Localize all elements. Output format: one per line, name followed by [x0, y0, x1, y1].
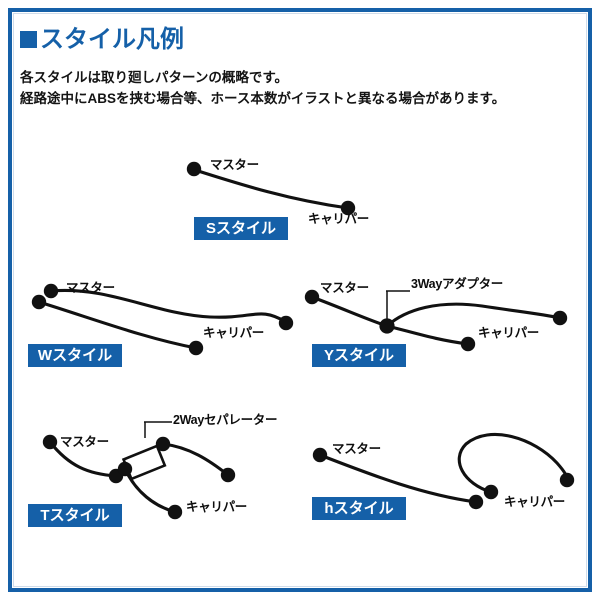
w-style-master-label: マスター — [66, 282, 115, 295]
t-style-master-node — [43, 435, 57, 449]
t-style-caliper-node-1 — [221, 468, 235, 482]
t-style-chip[interactable]: Tスタイル — [28, 504, 122, 527]
t-style-hose-to-sep — [116, 469, 125, 476]
h-style-master-label: マスター — [332, 443, 381, 456]
y-style-diagram — [305, 290, 567, 351]
note-line-2: 経路途中にABSを挟む場合等、ホース本数がイラストと異なる場合があります。 — [20, 89, 505, 110]
y-style-caliper-node-2 — [461, 337, 475, 351]
style-legend-page: スタイル凡例 各スタイルは取り廻しパターンの概略です。 経路途中にABSを挟む場… — [0, 0, 600, 600]
y-style-master-node — [305, 290, 319, 304]
w-style-caliper-node-2 — [189, 341, 203, 355]
h-style-master-node — [313, 448, 327, 462]
y-style-chip[interactable]: Yスタイル — [312, 344, 406, 367]
t-style-separator-box — [124, 446, 165, 479]
t-style-hose-branch-right — [163, 444, 228, 475]
t-style-caliper-label: キャリパー — [186, 501, 247, 514]
s-style-caliper-label: キャリパー — [308, 213, 369, 226]
w-style-chip[interactable]: Wスタイル — [28, 344, 122, 367]
y-style-hose-branch-lower — [387, 326, 468, 344]
y-style-hose-main — [312, 297, 387, 326]
page-title: スタイル凡例 — [20, 28, 184, 52]
h-style-caliper-node-3 — [560, 473, 574, 487]
s-style-master-node — [187, 162, 201, 176]
t-style-junction-node-1 — [109, 469, 123, 483]
h-style-caliper-label: キャリパー — [504, 496, 565, 509]
h-style-caliper-node-2 — [484, 485, 498, 499]
y-style-adapter-label: 3Wayアダプター — [411, 278, 503, 291]
w-style-caliper-label: キャリパー — [203, 327, 264, 340]
y-style-caliper-label: キャリパー — [478, 327, 539, 340]
note-line-1: 各スタイルは取り廻しパターンの概略です。 — [20, 68, 505, 89]
y-style-hose-branch-upper — [387, 304, 560, 326]
note-block: 各スタイルは取り廻しパターンの概略です。 経路途中にABSを挟む場合等、ホース本… — [20, 68, 505, 110]
h-style-caliper-node-1 — [469, 495, 483, 509]
t-style-separator-node — [156, 437, 170, 451]
t-style-junction-node-2 — [118, 462, 132, 476]
t-style-master-label: マスター — [60, 436, 109, 449]
page-title-text: スタイル凡例 — [40, 26, 184, 53]
t-style-caliper-node-2 — [168, 505, 182, 519]
y-style-master-label: マスター — [320, 282, 369, 295]
w-style-caliper-node-1 — [279, 316, 293, 330]
h-style-hose-master — [320, 455, 476, 502]
y-style-caliper-node-1 — [553, 311, 567, 325]
page-content: スタイル凡例 各スタイルは取り廻しパターンの概略です。 経路途中にABSを挟む場… — [14, 14, 586, 586]
filled-square-icon — [20, 31, 37, 48]
w-style-master-node-1 — [44, 284, 58, 298]
w-style-hose-upper — [51, 290, 286, 322]
h-style-chip[interactable]: hスタイル — [312, 497, 406, 520]
t-style-separator-label: 2Wayセパレーター — [173, 414, 277, 427]
w-style-hose-lower — [39, 302, 196, 348]
h-style-hose-bridge — [459, 434, 567, 492]
s-style-master-label: マスター — [210, 159, 259, 172]
y-style-adapter-node — [379, 318, 394, 333]
s-style-chip[interactable]: Sスタイル — [194, 217, 288, 240]
t-style-hose-branch-down — [125, 469, 175, 512]
s-style-hose — [195, 170, 348, 208]
w-style-master-node-2 — [32, 295, 46, 309]
